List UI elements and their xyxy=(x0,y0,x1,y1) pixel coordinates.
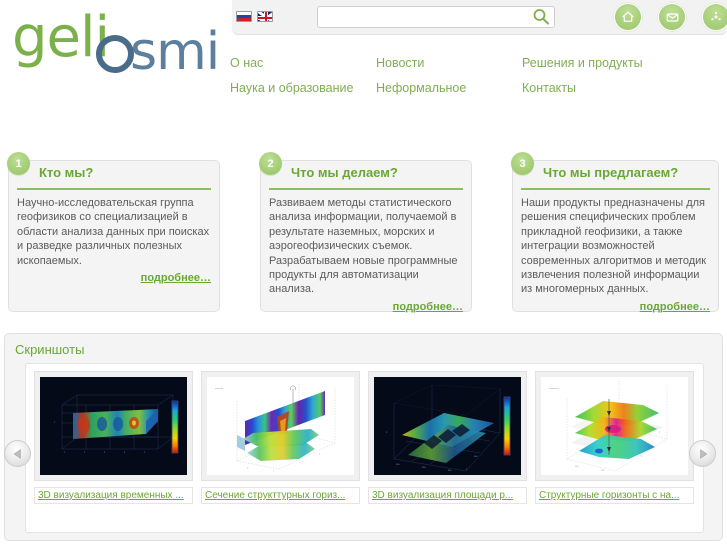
screenshot-image-1: 123 45 Y xyxy=(40,377,187,475)
screenshot-caption[interactable]: 3D визуализация временных ... xyxy=(34,487,193,504)
screenshot-frame[interactable]: 100200 300400 ZX xyxy=(368,371,527,481)
intro-card-1: 1 Кто мы? Научно-исследовательская групп… xyxy=(8,160,220,312)
chevron-right-icon xyxy=(696,447,710,461)
carousel-next-button[interactable] xyxy=(689,440,716,467)
intro-card-2: 2 Что мы делаем? Развиваем методы статис… xyxy=(260,160,472,312)
mail-button[interactable] xyxy=(658,3,686,31)
screenshot-item[interactable]: 100200 300400 ZX xyxy=(368,371,527,504)
card-title: Что мы делаем? xyxy=(291,165,398,180)
screenshot-frame[interactable]: геология XYZ xyxy=(201,371,360,481)
search-icon xyxy=(532,8,550,26)
svg-text:горизонты: горизонты xyxy=(549,388,559,390)
top-utility-bar xyxy=(232,0,727,35)
card-divider xyxy=(17,188,211,190)
sitemap-icon xyxy=(709,10,723,24)
nav-item-contacts[interactable]: Контакты xyxy=(522,81,576,95)
nav-item-news[interactable]: Новости xyxy=(376,56,424,70)
screenshot-frame[interactable]: 123 45 Y xyxy=(34,371,193,481)
home-icon xyxy=(621,10,635,24)
nav-row-1: О нас Новости Решения и продукты xyxy=(230,54,700,72)
screenshot-frame[interactable]: горизонты 100200 XZ xyxy=(535,371,694,481)
card-title: Что мы предлагаем? xyxy=(543,165,678,180)
logo-ring-icon xyxy=(96,35,134,73)
site-header: geli smi О нас Новости Решения и продукт… xyxy=(0,0,727,112)
intro-cards: 1 Кто мы? Научно-исследовательская групп… xyxy=(0,152,727,317)
language-switcher xyxy=(236,11,273,22)
screenshot-image-2: геология XYZ xyxy=(207,377,354,475)
nav-item-informal[interactable]: Неформальное xyxy=(376,81,466,95)
quick-buttons xyxy=(614,3,727,31)
screenshot-item[interactable]: горизонты 100200 XZ Структурные горизонт… xyxy=(535,371,694,504)
search-input[interactable] xyxy=(318,7,526,27)
nav-row-2: Наука и образование Неформальное Контакт… xyxy=(230,79,700,97)
screenshot-item[interactable]: 123 45 Y xyxy=(34,371,193,504)
card-more-link[interactable]: подробнее… xyxy=(269,300,463,314)
screenshot-caption[interactable]: Сечение структтурных гориз... xyxy=(201,487,360,504)
nav-item-science[interactable]: Наука и образование xyxy=(230,81,353,95)
card-divider xyxy=(521,188,710,190)
nav-item-solutions[interactable]: Решения и продукты xyxy=(522,56,643,70)
sitemap-button[interactable] xyxy=(702,3,727,31)
carousel-prev-button[interactable] xyxy=(4,440,31,467)
card-divider xyxy=(269,188,463,190)
main-navigation: О нас Новости Решения и продукты Наука и… xyxy=(230,54,700,104)
card-more-link[interactable]: подробнее… xyxy=(17,271,211,285)
screenshot-caption[interactable]: 3D визуализация площади р... xyxy=(368,487,527,504)
page-root: geli smi О нас Новости Решения и продукт… xyxy=(0,0,727,545)
card-body-text: Развиваем методы статистического анализа… xyxy=(269,197,457,295)
logo-text-secondary: smi xyxy=(130,24,219,80)
svg-text:геология: геология xyxy=(215,388,223,390)
card-body: Наши продукты предназначены для решения … xyxy=(521,196,710,314)
site-logo[interactable]: geli smi xyxy=(12,12,224,72)
screenshots-title: Скриншоты xyxy=(15,342,84,357)
screenshots-carousel: 123 45 Y xyxy=(25,363,704,533)
screenshot-caption[interactable]: Структурные горизонты с на... xyxy=(535,487,694,504)
card-title: Кто мы? xyxy=(39,165,93,180)
chevron-left-icon xyxy=(11,447,25,461)
screenshot-list: 123 45 Y xyxy=(34,371,694,504)
screenshots-panel: Скриншоты xyxy=(4,333,723,541)
card-body-text: Научно-исследовательская группа геофизик… xyxy=(17,197,209,267)
russian-flag-icon[interactable] xyxy=(236,11,252,22)
screenshot-image-4: горизонты 100200 XZ xyxy=(541,377,688,475)
card-number-badge: 3 xyxy=(511,152,534,175)
logo-text-primary: geli xyxy=(12,8,109,68)
card-body: Научно-исследовательская группа геофизик… xyxy=(17,196,211,285)
mail-icon xyxy=(665,10,680,24)
screenshot-item[interactable]: геология XYZ Сечение структтурных гориз.… xyxy=(201,371,360,504)
intro-card-3: 3 Что мы предлагаем? Наши продукты предн… xyxy=(512,160,719,312)
card-body-text: Наши продукты предназначены для решения … xyxy=(521,197,706,295)
card-number-badge: 2 xyxy=(259,152,282,175)
english-flag-icon[interactable] xyxy=(257,11,273,22)
home-button[interactable] xyxy=(614,3,642,31)
card-body: Развиваем методы статистического анализа… xyxy=(269,196,463,314)
card-more-link[interactable]: подробнее… xyxy=(521,300,710,314)
search-box[interactable] xyxy=(317,6,555,28)
search-button[interactable] xyxy=(532,8,552,26)
screenshot-image-3: 100200 300400 ZX xyxy=(374,377,521,475)
nav-item-about[interactable]: О нас xyxy=(230,56,263,70)
card-number-badge: 1 xyxy=(7,152,30,175)
